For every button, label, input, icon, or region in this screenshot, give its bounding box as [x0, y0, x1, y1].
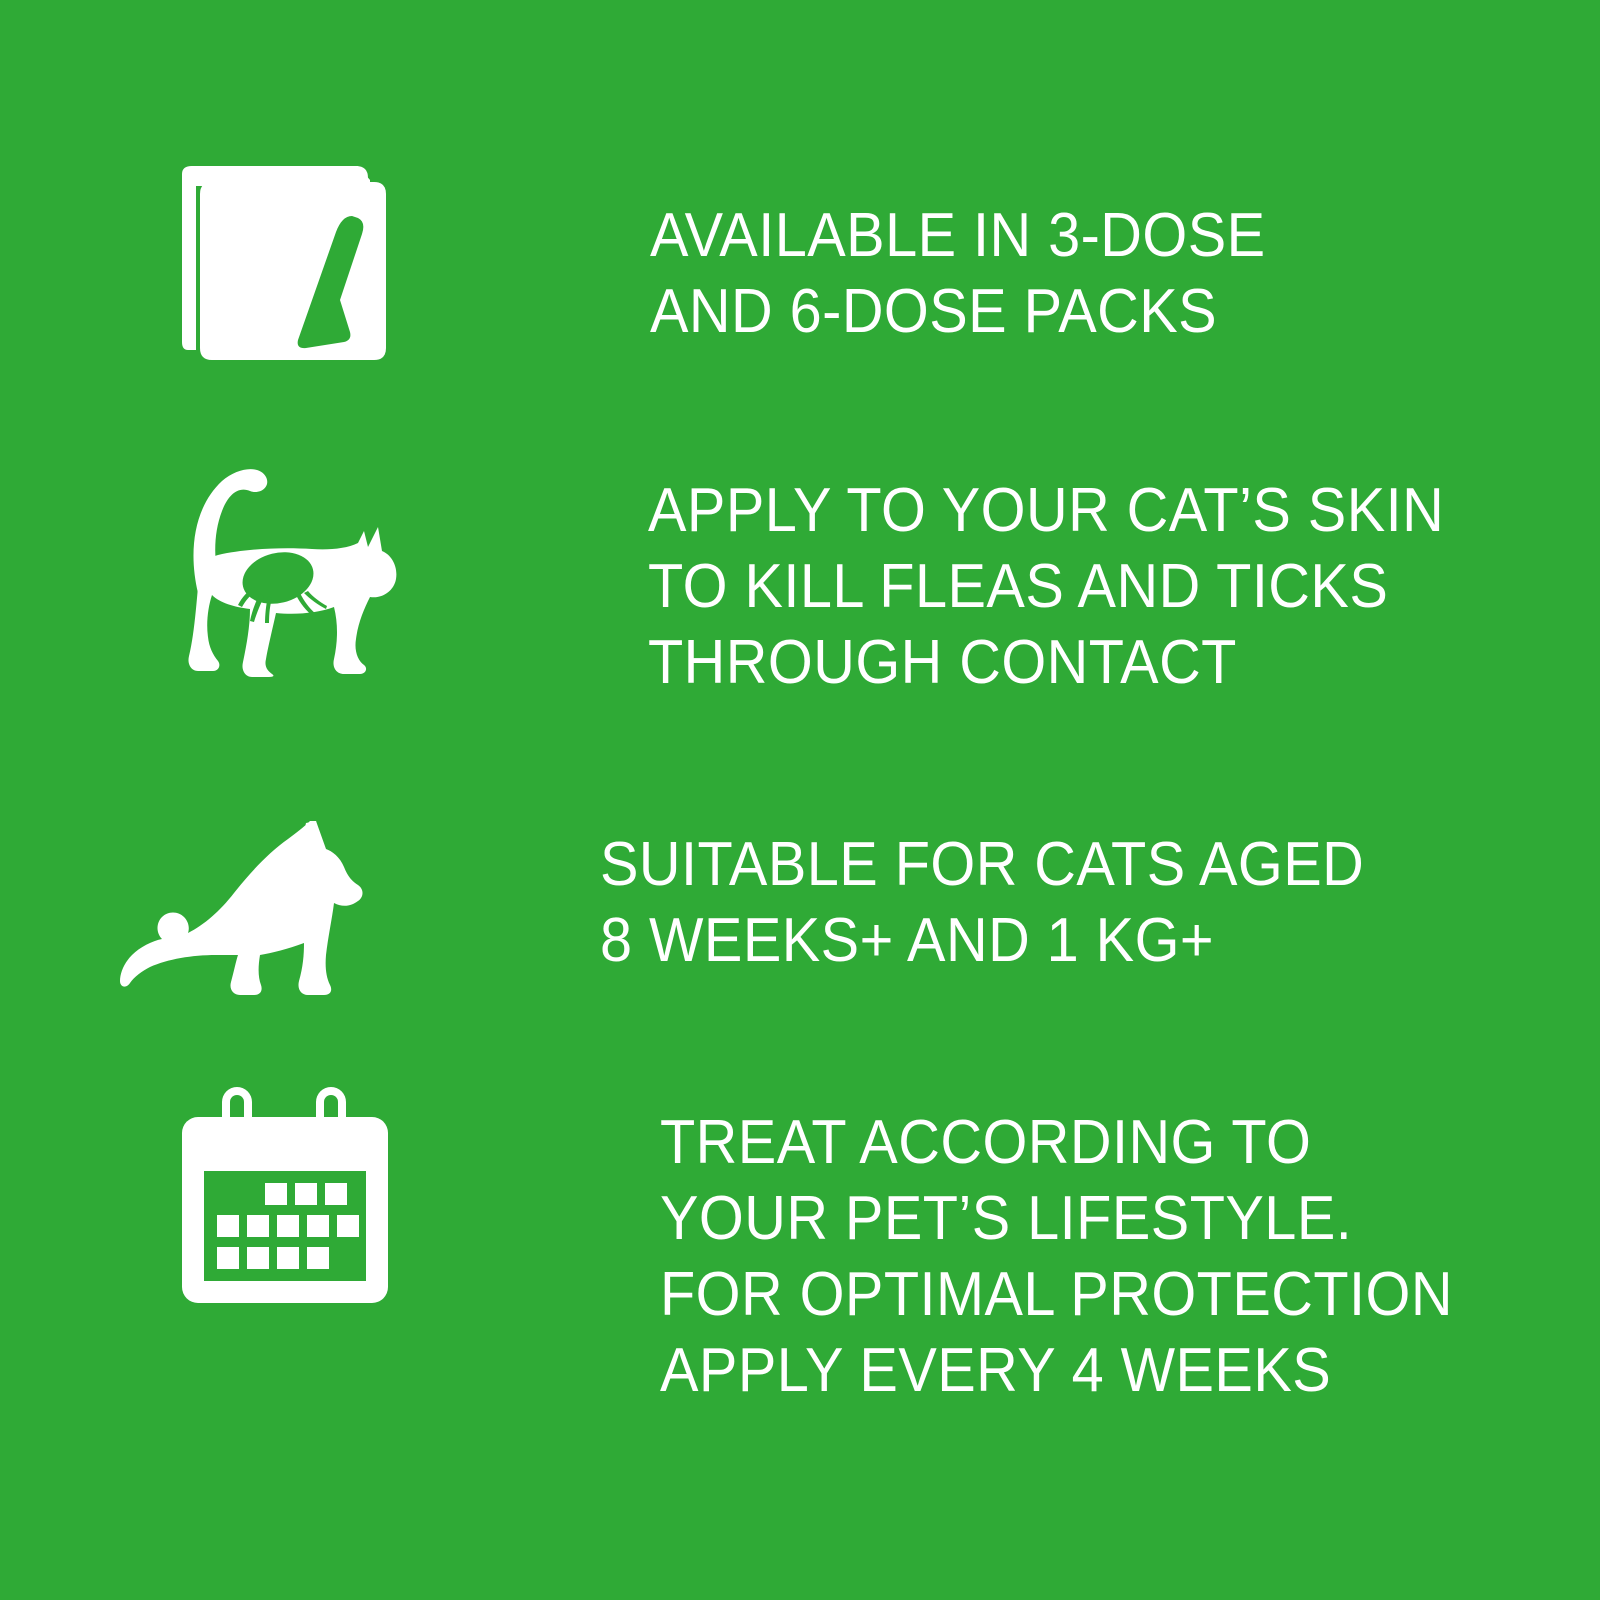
text-cell: TREAT ACCORDING TO YOUR PET’S LIFESTYLE.… [660, 1105, 1600, 1409]
sitting-cat-icon [120, 815, 388, 1001]
icon-cell [0, 160, 650, 370]
feature-text-line: APPLY EVERY 4 WEEKS [660, 1333, 1534, 1409]
feature-text-line: AVAILABLE IN 3-DOSE [650, 198, 1534, 274]
feature-text-line: THROUGH CONTACT [648, 625, 1533, 701]
feature-text-line: YOUR PET’S LIFESTYLE. [660, 1181, 1534, 1257]
feature-text-line: AND 6-DOSE PACKS [650, 274, 1534, 350]
feature-text-line: APPLY TO YOUR CAT’S SKIN [648, 473, 1533, 549]
text-cell: AVAILABLE IN 3-DOSE AND 6-DOSE PACKS [650, 198, 1600, 350]
feature-row-dose-packs: AVAILABLE IN 3-DOSE AND 6-DOSE PACKS [0, 160, 1600, 370]
feature-text-line: 8 WEEKS+ AND 1 KG+ [600, 903, 1530, 979]
feature-text-line: FOR OPTIMAL PROTECTION [660, 1257, 1534, 1333]
product-feature-infographic: AVAILABLE IN 3-DOSE AND 6-DOSE PACKS [0, 0, 1600, 1600]
icon-cell [0, 455, 648, 677]
text-cell: APPLY TO YOUR CAT’S SKIN TO KILL FLEAS A… [648, 473, 1600, 701]
feature-row-suitable-for-cats: SUITABLE FOR CATS AGED 8 WEEKS+ AND 1 KG… [0, 815, 1600, 1001]
icon-cell [0, 815, 600, 1001]
feature-row-apply-to-skin: APPLY TO YOUR CAT’S SKIN TO KILL FLEAS A… [0, 455, 1600, 701]
calendar-icon [180, 1085, 390, 1305]
feature-text-line: TO KILL FLEAS AND TICKS [648, 549, 1533, 625]
icon-cell [0, 1085, 660, 1305]
text-cell: SUITABLE FOR CATS AGED 8 WEEKS+ AND 1 KG… [600, 827, 1600, 979]
feature-text-line: SUITABLE FOR CATS AGED [600, 827, 1530, 903]
dose-pack-icon [170, 160, 402, 370]
feature-text-line: TREAT ACCORDING TO [660, 1105, 1534, 1181]
walking-cat-with-flea-icon [168, 455, 404, 677]
feature-row-treat-schedule: TREAT ACCORDING TO YOUR PET’S LIFESTYLE.… [0, 1085, 1600, 1409]
